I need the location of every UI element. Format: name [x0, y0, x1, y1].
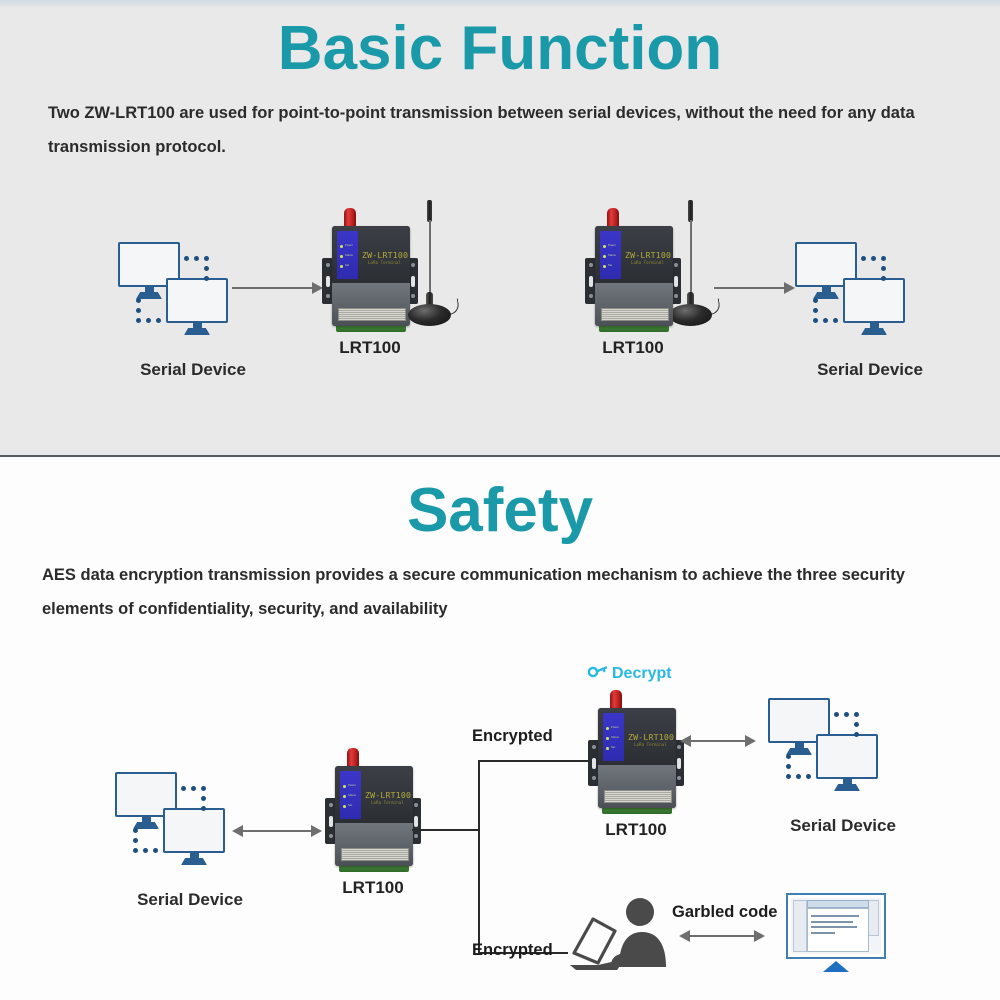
led-panel: Power Status Net — [340, 771, 361, 819]
basic-function-paragraph: Two ZW-LRT100 are used for point-to-poin… — [48, 96, 968, 164]
wire-branch-top — [478, 760, 591, 762]
arrow-shaft — [239, 830, 315, 832]
basic-function-title: Basic Function — [0, 18, 1000, 80]
monitor-frame — [786, 893, 886, 959]
device-model-text: ZW-LRT100 — [628, 732, 674, 742]
basic-right-serial-device: Serial Device — [795, 242, 945, 362]
encrypted-label-bottom: Encrypted — [472, 941, 553, 960]
device-sticker — [601, 308, 669, 321]
arrow-shaft — [232, 287, 314, 289]
serial-device-label: Serial Device — [817, 360, 923, 380]
device-sticker — [341, 848, 409, 861]
arrow-head-left-icon — [232, 825, 243, 837]
lrt100-device-right: Power Status Net ZW-LRT100 LoRa Terminal… — [585, 208, 681, 333]
device-sticker — [338, 308, 406, 321]
serial-device-label: Serial Device — [140, 360, 246, 380]
device-sub-text: LoRa Terminal — [631, 260, 664, 265]
arrow-shaft — [714, 287, 786, 289]
arrow-head-left-icon — [679, 930, 690, 942]
wire-vertical — [478, 760, 480, 954]
serial-device-label: Serial Device — [137, 890, 243, 910]
key-icon — [588, 664, 607, 684]
device-sub-text: LoRa Terminal — [371, 800, 404, 805]
lrt100-device-safety-right: Power Status Net ZW-LRT100 LoRa Terminal… — [588, 690, 684, 815]
screen-content — [791, 898, 881, 954]
lrt100-label: LRT100 — [339, 338, 400, 358]
safety-title: Safety — [0, 480, 1000, 542]
device-body: Power Status Net ZW-LRT100 LoRa Terminal — [598, 708, 676, 808]
infographic-page: Basic Function Two ZW-LRT100 are used fo… — [0, 0, 1000, 1000]
device-body: Power Status Net ZW-LRT100 LoRa Terminal — [332, 226, 410, 326]
device-sub-text: LoRa Terminal — [634, 742, 667, 747]
lrt100-label: LRT100 — [342, 878, 403, 898]
garbled-code-monitor — [786, 893, 886, 971]
device-body: Power Status Net ZW-LRT100 LoRa Terminal — [335, 766, 413, 866]
safety-paragraph: AES data encryption transmission provide… — [42, 558, 972, 626]
led-panel: Power Status Net — [337, 231, 358, 279]
device-sticker — [604, 790, 672, 803]
lrt100-label: LRT100 — [602, 338, 663, 358]
led-panel: Power Status Net — [603, 713, 624, 761]
safety-right-serial-device: Serial Device — [768, 698, 918, 818]
monitor-icon — [843, 278, 905, 335]
lrt100-device-safety-left: Power Status Net ZW-LRT100 LoRa Terminal… — [325, 748, 421, 873]
garbled-code-label: Garbled code — [672, 903, 777, 922]
antenna-icon-left — [402, 200, 456, 330]
lrt100-label: LRT100 — [605, 820, 666, 840]
arrow-head-right-icon — [745, 735, 756, 747]
encrypted-label-top: Encrypted — [472, 727, 553, 746]
wire-trunk — [412, 829, 480, 831]
device-model-text: ZW-LRT100 — [365, 790, 411, 800]
arrow-head-right-icon — [311, 825, 322, 837]
decrypt-label: Decrypt — [612, 665, 672, 683]
arrow-shaft — [686, 935, 758, 937]
monitor-icon — [166, 278, 228, 335]
device-model-text: ZW-LRT100 — [625, 250, 671, 260]
serial-device-label: Serial Device — [790, 816, 896, 836]
arrow-head-right-icon — [784, 282, 795, 294]
arrow-head-right-icon — [754, 930, 765, 942]
monitor-icon — [163, 808, 225, 865]
led-panel: Power Status Net — [600, 231, 621, 279]
top-band — [0, 0, 1000, 7]
decrypt-indicator: Decrypt — [588, 664, 672, 684]
arrow-head-left-icon — [680, 735, 691, 747]
monitor-icon — [816, 734, 878, 791]
hacker-icon — [556, 895, 686, 975]
arrow-shaft — [687, 740, 749, 742]
device-sub-text: LoRa Terminal — [368, 260, 401, 265]
monitor-stand — [823, 961, 849, 972]
device-body: Power Status Net ZW-LRT100 LoRa Terminal — [595, 226, 673, 326]
basic-left-serial-device: Serial Device — [118, 242, 268, 362]
